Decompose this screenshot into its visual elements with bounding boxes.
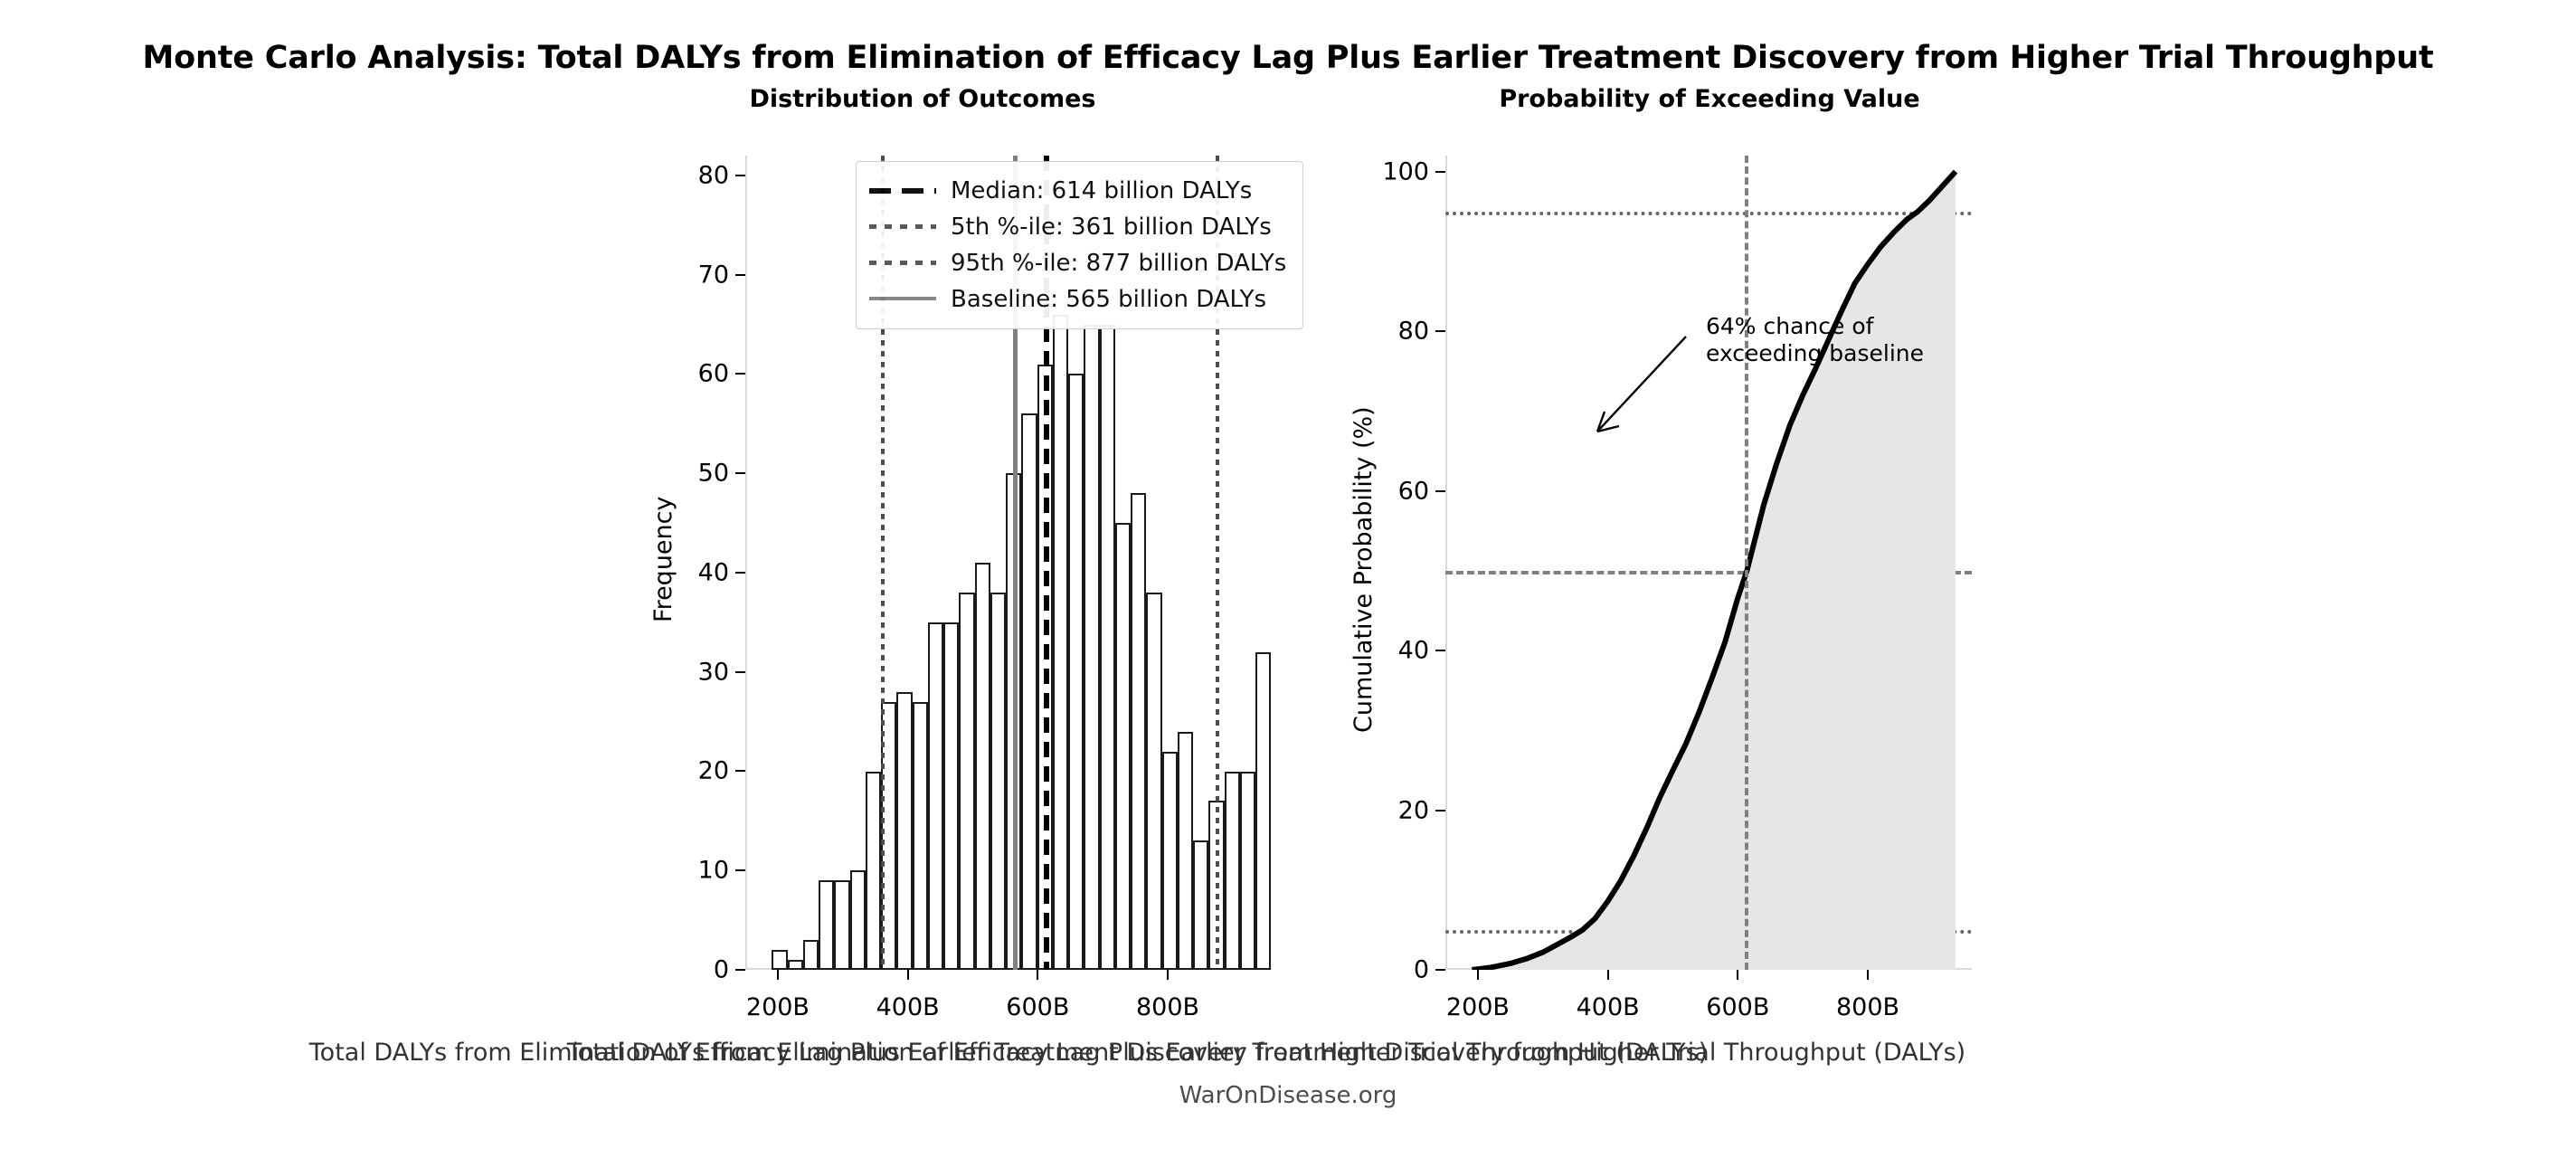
legend-label-p5: 5th %-ile: 361 billion DALYs: [951, 214, 1272, 241]
cdf-y-tick-mark: [1435, 490, 1445, 492]
cdf-annotation-line2: exceeding baseline: [1706, 340, 1924, 367]
cdf-y-tick-mark: [1435, 650, 1445, 651]
figure-footer: WarOnDisease.org: [0, 1082, 2576, 1109]
legend-item-p95: 95th %-ile: 877 billion DALYs: [869, 245, 1286, 281]
histogram-y-tick-mark: [735, 572, 745, 574]
histogram-y-tick-mark: [735, 869, 745, 871]
histogram-x-tick-mark: [1037, 970, 1038, 980]
legend-label-baseline: Baseline: 565 billion DALYs: [951, 286, 1266, 313]
cdf-x-tick-mark: [1607, 970, 1609, 980]
figure-root: Monte Carlo Analysis: Total DALYs from E…: [0, 0, 2576, 1158]
legend-item-baseline: Baseline: 565 billion DALYs: [869, 281, 1286, 318]
cdf-y-tick-mark: [1435, 330, 1445, 332]
cdf-axes: 020406080100 200B400B600B800B: [1445, 156, 1972, 970]
figure-suptitle: Monte Carlo Analysis: Total DALYs from E…: [0, 40, 2576, 76]
histogram-y-tick-mark: [735, 373, 745, 375]
cdf-annotation: 64% chance of exceeding baseline: [1706, 313, 1924, 366]
cdf-x-tick-mark: [1737, 970, 1738, 980]
cdf-median-vline: [1745, 156, 1748, 970]
cdf-x-tick-mark: [1477, 970, 1479, 980]
legend-item-p5: 5th %-ile: 361 billion DALYs: [869, 209, 1286, 245]
legend-label-p95: 95th %-ile: 877 billion DALYs: [951, 250, 1286, 277]
histogram-x-tick-mark: [907, 970, 909, 980]
cdf-y-tick-mark: [1435, 969, 1445, 971]
histogram-y-tick-mark: [735, 274, 745, 276]
histogram-y-tick-mark: [735, 175, 745, 176]
cdf-annotation-line1: 64% chance of: [1706, 313, 1924, 340]
cdf-fill-area: [1472, 172, 1956, 970]
cdf-y-tick-mark: [1435, 171, 1445, 173]
histogram-y-tick-mark: [735, 969, 745, 971]
legend-item-median: Median: 614 billion DALYs: [869, 173, 1286, 209]
histogram-title: Distribution of Outcomes: [579, 85, 1266, 113]
cdf-curve: [1445, 156, 1972, 970]
cdf-y-tick-mark: [1435, 810, 1445, 812]
histogram-y-tick-mark: [735, 472, 745, 474]
cdf-title: Probability of Exceeding Value: [1357, 85, 2062, 113]
histogram-x-tick-mark: [777, 970, 779, 980]
cdf-x-tick-mark: [1867, 970, 1869, 980]
histogram-x-tick-mark: [1167, 970, 1169, 980]
cdf-y-axis-label: Cumulative Probability (%): [1350, 406, 1378, 733]
legend-label-median: Median: 614 billion DALYs: [951, 177, 1252, 204]
histogram-y-tick-mark: [735, 770, 745, 772]
histogram-legend: Median: 614 billion DALYs 5th %-ile: 361…: [856, 161, 1303, 329]
cdf-x-axis-label: Total DALYs from Elimination of Efficacy…: [567, 1039, 1965, 1067]
histogram-y-axis-label: Frequency: [649, 497, 677, 622]
histogram-y-tick-mark: [735, 671, 745, 673]
